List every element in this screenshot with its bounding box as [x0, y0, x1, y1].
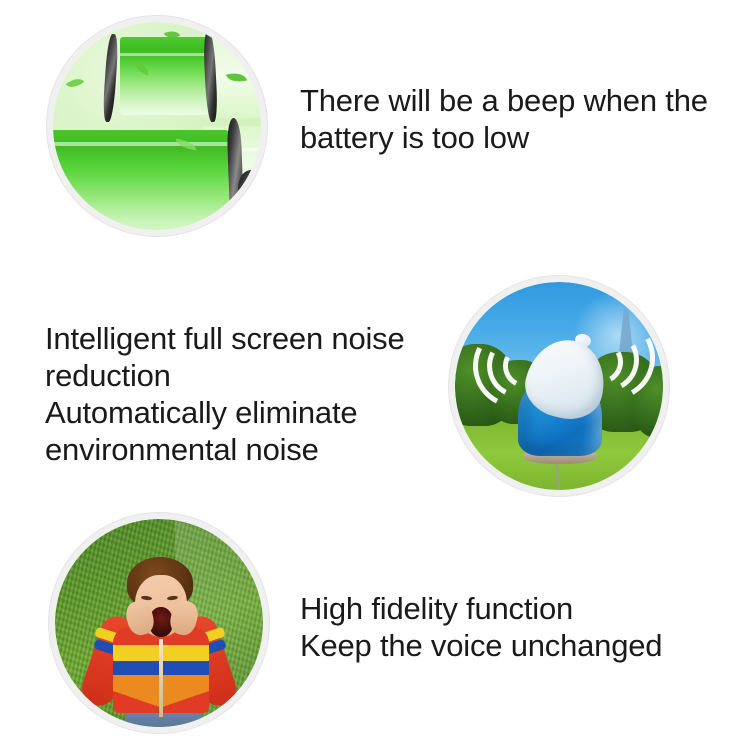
battery-feature-image [53, 22, 261, 230]
noise-reduction-feature-image [455, 282, 663, 490]
battery-top-cell [120, 37, 208, 115]
noise-image-inner [455, 282, 663, 490]
battery-main-charge-cell [53, 130, 230, 230]
battery-feature-text: There will be a beep when the battery is… [300, 82, 740, 156]
infographic-page: There will be a beep when the battery is… [0, 0, 750, 750]
jacket-zipper [159, 639, 163, 717]
battery-terminal-knob-icon [238, 170, 261, 206]
shout-image-inner [55, 519, 263, 727]
high-fidelity-feature-text: High fidelity function Keep the voice un… [300, 590, 730, 664]
noise-reduction-feature-text: Intelligent full screen noise reduction … [45, 320, 465, 468]
battery-image-inner [53, 22, 261, 230]
high-fidelity-feature-image [55, 519, 263, 727]
